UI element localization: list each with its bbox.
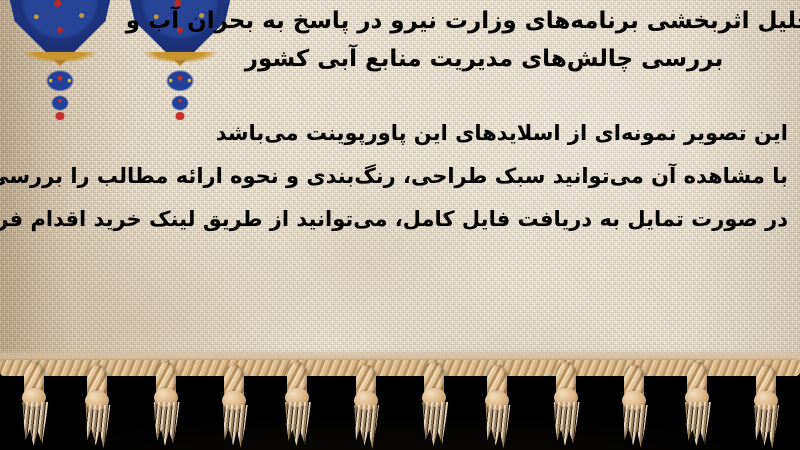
tassel-icon xyxy=(83,365,113,450)
body-line-1: این تصویر نمونه‌ای از اسلایدهای این پاور… xyxy=(12,112,788,155)
tassel-icon xyxy=(420,362,450,448)
tassel-icon xyxy=(752,365,782,450)
tassel-icon xyxy=(552,362,582,448)
tassel-skirt xyxy=(21,402,49,446)
tassel-skirt xyxy=(553,402,581,446)
tassel-skirt xyxy=(753,405,781,449)
fringe-cord xyxy=(0,360,800,376)
tassel-skirt xyxy=(284,402,312,446)
tassel-icon xyxy=(220,365,250,450)
body-line-3: در صورت تمایل به دریافت فایل کامل، می‌تو… xyxy=(12,198,788,241)
tassel-icon xyxy=(283,362,313,448)
tassel-skirt xyxy=(353,405,381,449)
tassel-skirt xyxy=(621,405,649,449)
tassel-skirt xyxy=(421,402,449,446)
tassel-icon xyxy=(620,365,650,450)
tassel-icon xyxy=(20,362,50,448)
title-line-1: تحلیل اثربخشی برنامه‌های وزارت نیرو در پ… xyxy=(210,2,800,40)
tassel-icon xyxy=(483,365,513,450)
body-line-2: با مشاهده آن می‌توانید سبک طراحی، رنگ‌بن… xyxy=(12,155,788,198)
tassel-skirt xyxy=(484,405,512,449)
tassel-icon xyxy=(352,365,382,450)
tassel-skirt xyxy=(84,405,112,449)
fringe-decoration xyxy=(0,350,800,450)
title-line-2: بررسی چالش‌های مدیریت منابع آبی کشور xyxy=(210,40,800,78)
slide-body: این تصویر نمونه‌ای از اسلایدهای این پاور… xyxy=(12,112,788,241)
tassel-skirt xyxy=(153,402,181,446)
slide-title: تحلیل اثربخشی برنامه‌های وزارت نیرو در پ… xyxy=(0,2,800,78)
tassel-icon xyxy=(152,362,182,448)
tassel-skirt xyxy=(221,405,249,449)
tassel-icon xyxy=(683,362,713,448)
tassel-skirt xyxy=(684,402,712,446)
ornament-pendant-medium-icon xyxy=(169,94,191,112)
slide-canvas: تحلیل اثربخشی برنامه‌های وزارت نیرو در پ… xyxy=(0,0,800,450)
ornament-pendant-medium-icon xyxy=(49,94,71,112)
